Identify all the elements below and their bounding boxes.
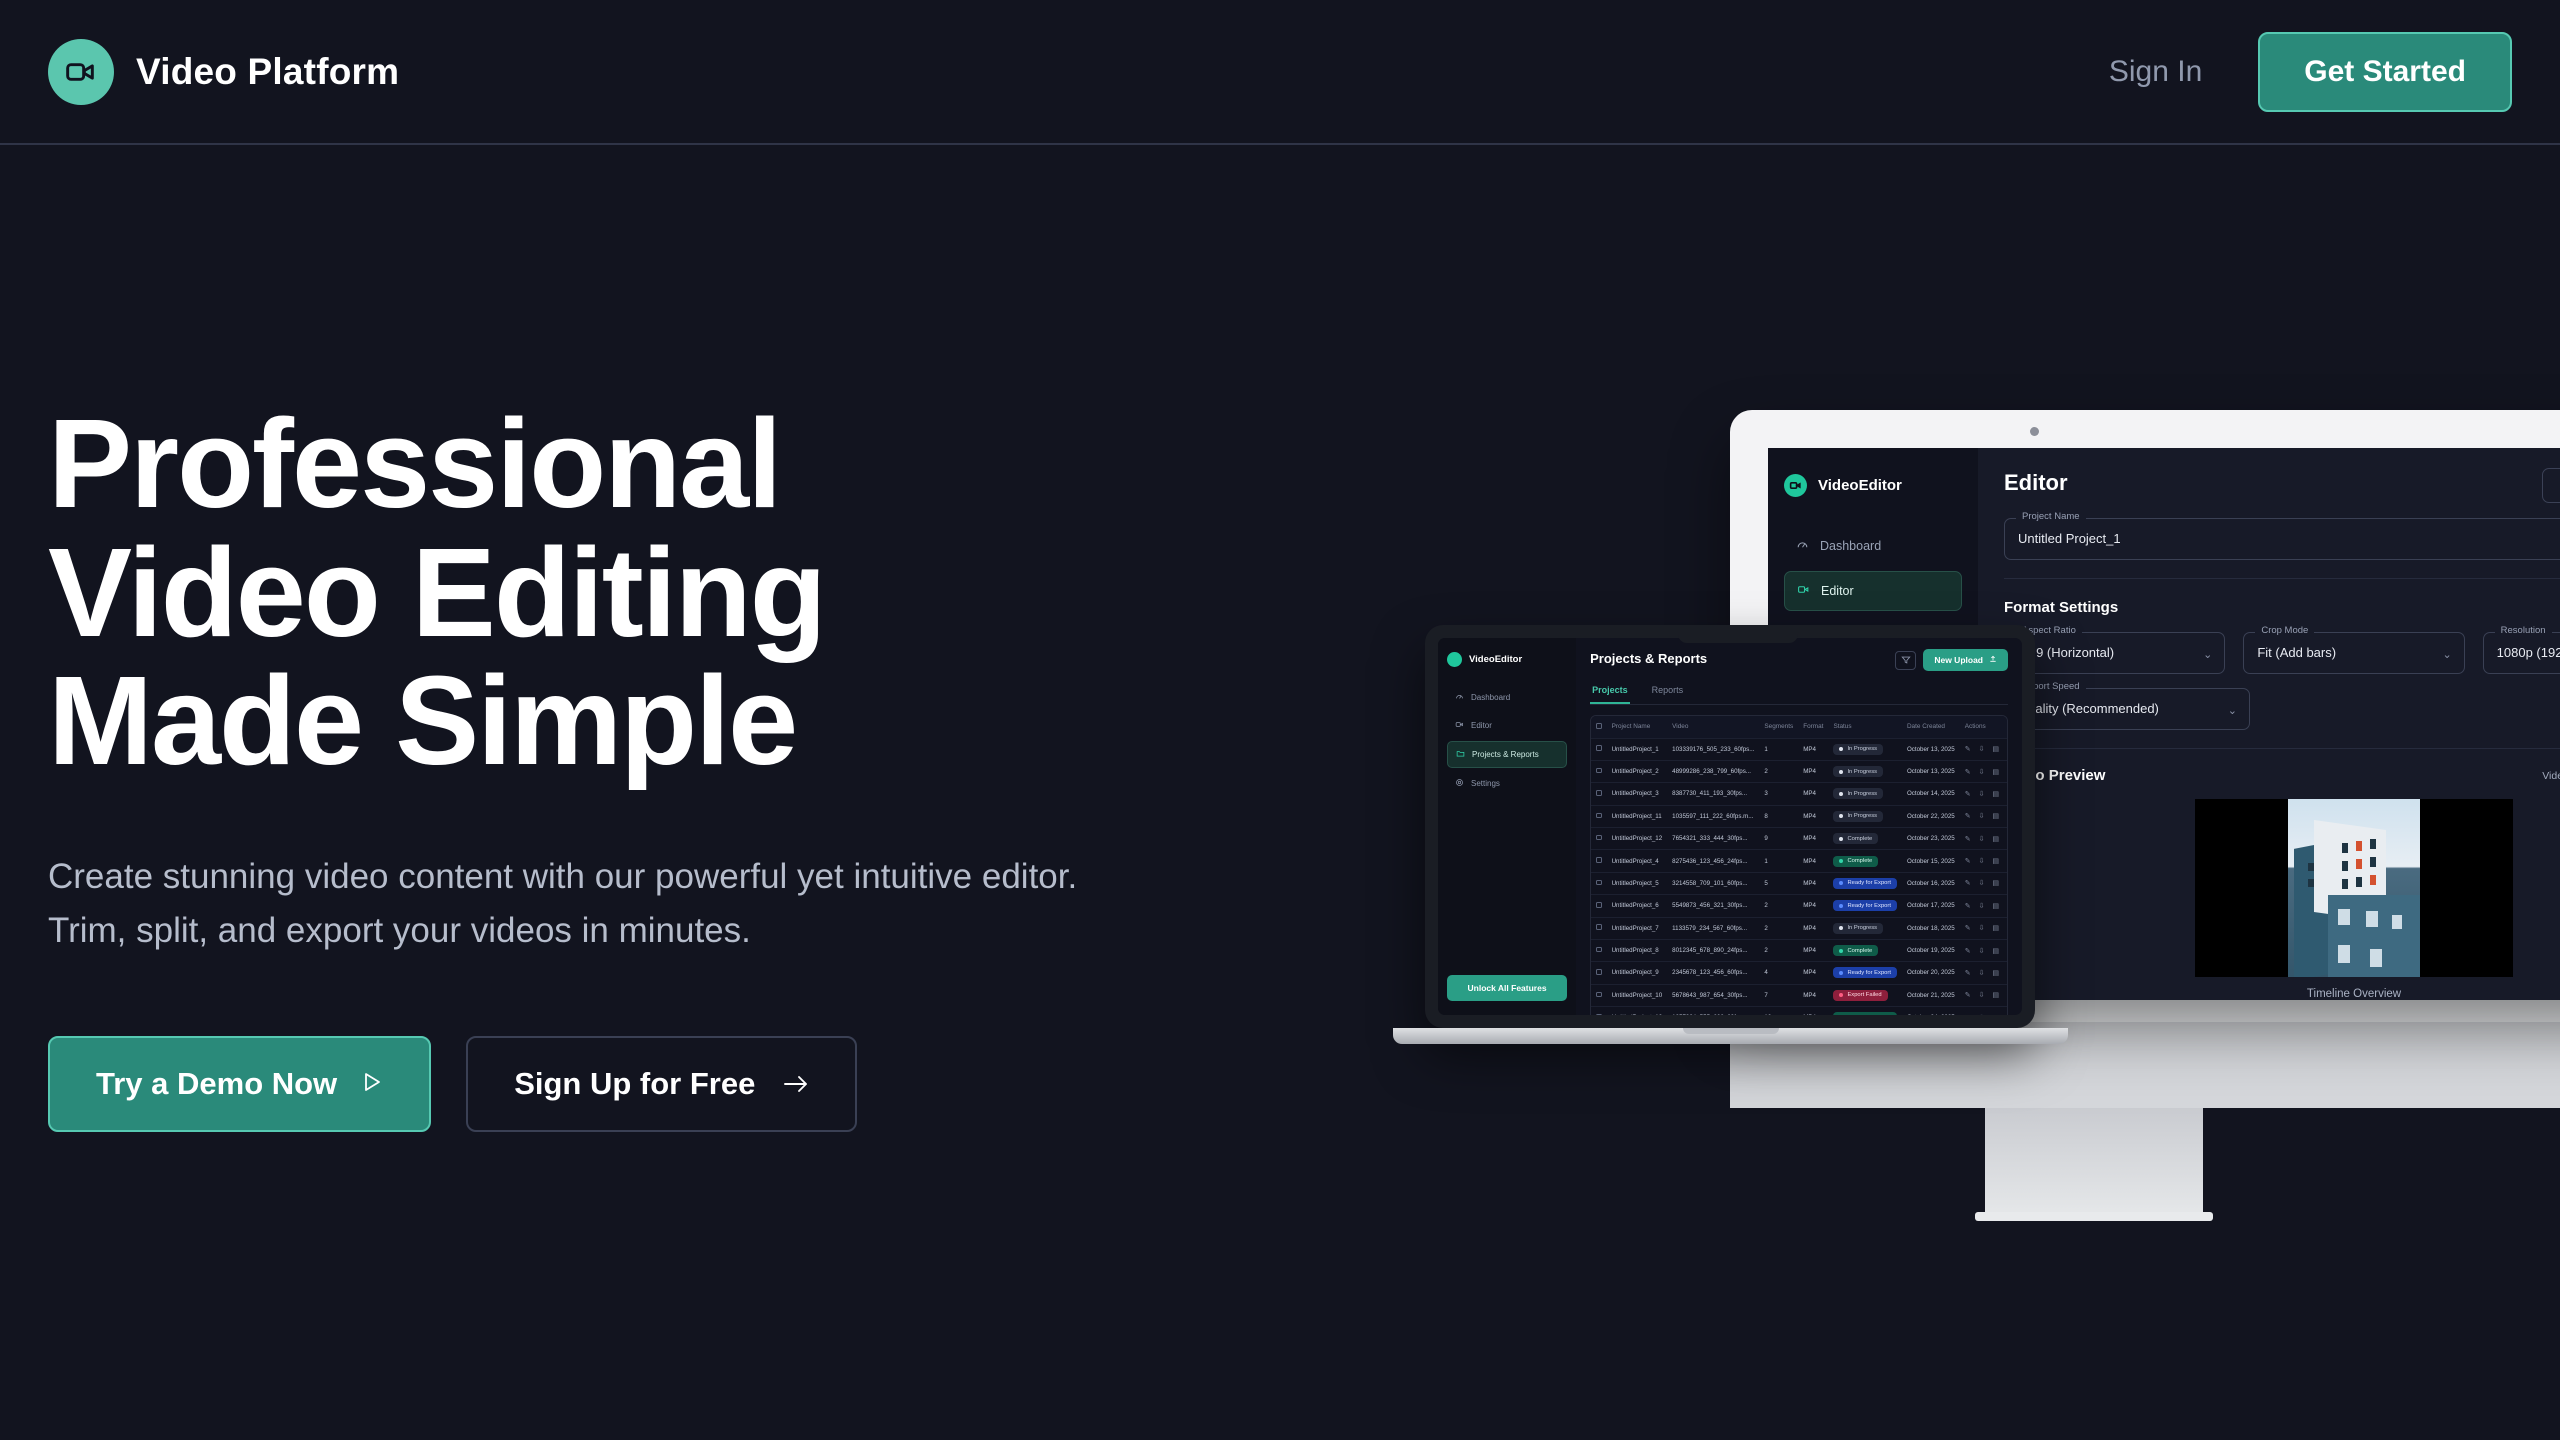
table-row[interactable]: UntitledProject_48275436_123_456_24fps..…: [1591, 850, 2007, 872]
cell-project-name: UntitledProject_8: [1607, 939, 1668, 961]
sidebar-label: Dashboard: [1820, 539, 1881, 553]
crop-mode-value: Fit (Add bars): [2257, 645, 2336, 660]
sidebar-label: Editor: [1821, 584, 1854, 598]
cell-video: 1133579_234_567_60fps...: [1667, 917, 1759, 939]
row-checkbox[interactable]: [1591, 917, 1607, 939]
crop-mode-label: Crop Mode: [2255, 625, 2314, 636]
tab-projects[interactable]: Projects: [1590, 679, 1630, 704]
format-settings-title: Format Settings: [2004, 599, 2560, 616]
cell-segments: 1: [1759, 738, 1798, 760]
cell-actions[interactable]: ✎ ⇩ ▤: [1960, 917, 2007, 939]
cell-segments: 2: [1759, 895, 1798, 917]
cell-segments: 2: [1759, 917, 1798, 939]
table-row[interactable]: UntitledProject_111035597_111_222_60fps.…: [1591, 805, 2007, 827]
monitor-stand-neck: [1985, 1108, 2203, 1218]
divider: [2004, 578, 2560, 579]
cell-project-name: UntitledProject_7: [1607, 917, 1668, 939]
cell-status: Complete: [1828, 939, 1902, 961]
cell-segments: 5: [1759, 872, 1798, 894]
cell-format: MP4: [1798, 738, 1828, 760]
chevron-down-icon: ⌄: [2442, 648, 2451, 661]
cell-status: Complete: [1828, 828, 1902, 850]
cell-format: MP4: [1798, 984, 1828, 1006]
sidebar-label: Projects & Reports: [1472, 750, 1539, 759]
cell-segments: 3: [1759, 783, 1798, 805]
video-camera-icon: [1784, 474, 1807, 497]
cell-actions[interactable]: ✎ ⇩ ▤: [1960, 783, 2007, 805]
table-row[interactable]: UntitledProject_105678643_987_654_30fps.…: [1591, 984, 2007, 1006]
funnel-icon[interactable]: [1895, 651, 1916, 670]
cell-status: In Progress: [1828, 783, 1902, 805]
table-row[interactable]: UntitledProject_1103339176_505_233_60fps…: [1591, 738, 2007, 760]
project-name-label: Project Name: [2016, 511, 2086, 522]
row-checkbox[interactable]: [1591, 828, 1607, 850]
new-upload-button[interactable]: New Upload: [1923, 649, 2008, 671]
cell-video: 1035597_111_222_60fps.m...: [1667, 805, 1759, 827]
project-name-value: Untitled Project_1: [2018, 531, 2121, 546]
cell-project-name: UntitledProject_11: [1607, 805, 1668, 827]
resolution-label: Resolution: [2495, 625, 2552, 636]
gear-icon: [1455, 778, 1464, 789]
sidebar-label: Editor: [1471, 721, 1492, 730]
th-format[interactable]: Format: [1798, 716, 1828, 738]
cell-date: October 21, 2025: [1902, 984, 1960, 1006]
cell-status: Ready for Export: [1828, 1007, 1902, 1016]
cell-status: In Progress: [1828, 805, 1902, 827]
cell-actions[interactable]: ✎ ⇩ ▤: [1960, 872, 2007, 894]
laptop-brand: VideoEditor: [1447, 652, 1567, 667]
crop-mode-select[interactable]: Crop Mode Fit (Add bars) ⌄: [2243, 632, 2464, 674]
th-date-created[interactable]: Date Created: [1902, 716, 1960, 738]
cell-format: MP4: [1798, 939, 1828, 961]
video-camera-icon: [1447, 652, 1462, 667]
cell-format: MP4: [1798, 962, 1828, 984]
row-checkbox[interactable]: [1591, 760, 1607, 782]
try-demo-button[interactable]: Try a Demo Now: [48, 1036, 431, 1132]
th-video[interactable]: Video: [1667, 716, 1759, 738]
cell-video: 8012345_678_890_24fps...: [1667, 939, 1759, 961]
cell-video: 5549873_456_321_30fps...: [1667, 895, 1759, 917]
arrow-right-icon: [783, 1066, 809, 1102]
try-demo-label: Try a Demo Now: [96, 1066, 337, 1102]
cell-status: In Progress: [1828, 760, 1902, 782]
hero-line-1: Professional: [48, 393, 780, 534]
cell-video: 8275436_123_456_24fps...: [1667, 850, 1759, 872]
video-camera-icon: [1797, 583, 1810, 599]
cell-video: 2345678_123_456_60fps...: [1667, 962, 1759, 984]
editor-top-actions: Save Exp: [2542, 468, 2560, 503]
cell-date: October 22, 2025: [1902, 805, 1960, 827]
cell-actions[interactable]: ✎ ⇩ ▤: [1960, 984, 2007, 1006]
cell-date: October 13, 2025: [1902, 738, 1960, 760]
hero-section: Professional Video Editing Made Simple C…: [48, 400, 1168, 1132]
table-row[interactable]: UntitledProject_65549873_456_321_30fps..…: [1591, 895, 2007, 917]
cell-segments: 1: [1759, 850, 1798, 872]
cell-status: In Progress: [1828, 738, 1902, 760]
video-player[interactable]: [2195, 799, 2513, 977]
cell-format: MP4: [1798, 850, 1828, 872]
table-row[interactable]: UntitledProject_127654321_333_444_30fps.…: [1591, 828, 2007, 850]
cell-actions[interactable]: ✎ ⇩ ▤: [1960, 760, 2007, 782]
cell-status: Complete: [1828, 850, 1902, 872]
video-camera-icon: [48, 39, 114, 105]
cell-project-name: UntitledProject_9: [1607, 962, 1668, 984]
cell-segments: 8: [1759, 805, 1798, 827]
cell-video: 1357924_555_666_60fps...: [1667, 1007, 1759, 1016]
get-started-button[interactable]: Get Started: [2258, 32, 2512, 112]
cell-video: 3214558_709_101_60fps...: [1667, 872, 1759, 894]
cell-date: October 13, 2025: [1902, 760, 1960, 782]
table-header-row: Project Name Video Segments Format Statu…: [1591, 716, 2007, 738]
row-checkbox[interactable]: [1591, 783, 1607, 805]
cell-actions[interactable]: ✎ ⇩ ▤: [1960, 828, 2007, 850]
chevron-down-icon: ⌄: [2228, 704, 2237, 717]
video-camera-icon: [1455, 720, 1464, 731]
brand[interactable]: Video Platform: [48, 39, 399, 105]
project-name-field[interactable]: Project Name Untitled Project_1: [2004, 518, 2560, 560]
cell-segments: 9: [1759, 828, 1798, 850]
th-project-name[interactable]: Project Name: [1607, 716, 1668, 738]
cell-project-name: UntitledProject_5: [1607, 872, 1668, 894]
page-title: Professional Video Editing Made Simple: [48, 400, 1168, 786]
sign-up-button[interactable]: Sign Up for Free: [466, 1036, 857, 1132]
cell-format: MP4: [1798, 828, 1828, 850]
cell-date: October 20, 2025: [1902, 962, 1960, 984]
gauge-icon: [1796, 538, 1809, 554]
laptop-lid: VideoEditor Dashboard Editor: [1425, 625, 2035, 1028]
laptop-app-name: VideoEditor: [1469, 654, 1522, 665]
cell-format: MP4: [1798, 783, 1828, 805]
table-row[interactable]: UntitledProject_92345678_123_456_60fps..…: [1591, 962, 2007, 984]
row-checkbox[interactable]: [1591, 1007, 1607, 1016]
table-body: UntitledProject_1103339176_505_233_60fps…: [1591, 738, 2007, 1015]
cell-segments: 2: [1759, 939, 1798, 961]
cell-date: October 18, 2025: [1902, 917, 1960, 939]
cell-actions[interactable]: ✎ ⇩ ▤: [1960, 738, 2007, 760]
hero-line-3: Made Simple: [48, 650, 796, 791]
laptop-base: [1393, 1028, 2068, 1044]
table-row[interactable]: UntitledProject_248999286_238_799_60fps.…: [1591, 760, 2007, 782]
th-checkbox[interactable]: [1591, 716, 1607, 738]
cell-video: 8387730_411_193_30fps...: [1667, 783, 1759, 805]
product-mockup: VideoEditor Dashboard Editor: [1730, 400, 2560, 1280]
sidebar-label: Settings: [1471, 779, 1500, 788]
table-row[interactable]: UntitledProject_88012345_678_890_24fps..…: [1591, 939, 2007, 961]
cell-video: 5678643_987_654_30fps...: [1667, 984, 1759, 1006]
sidebar-item-editor[interactable]: Editor: [1447, 713, 1567, 738]
laptop-device: VideoEditor Dashboard Editor: [1425, 625, 2100, 1044]
row-checkbox[interactable]: [1591, 738, 1607, 760]
hero-subtitle: Create stunning video content with our p…: [48, 850, 1078, 959]
cell-project-name: UntitledProject_4: [1607, 850, 1668, 872]
cell-actions[interactable]: ✎ ⇩ ▤: [1960, 939, 2007, 961]
player-size-label: Video player size: [2542, 770, 2560, 782]
cell-date: October 23, 2025: [1902, 828, 1960, 850]
monitor-stand-foot: [1975, 1212, 2213, 1221]
landing-page: Video Platform Sign In Get Started Profe…: [0, 0, 2560, 1440]
video-frame-building-photo: [2288, 799, 2420, 977]
th-status[interactable]: Status: [1828, 716, 1902, 738]
resolution-value: 1080p (1920x1080): [2497, 645, 2560, 660]
laptop-toolbar: New Upload: [1895, 649, 2008, 671]
site-header: Video Platform Sign In Get Started: [0, 0, 2560, 145]
cell-format: MP4: [1798, 760, 1828, 782]
cell-date: October 19, 2025: [1902, 939, 1960, 961]
cell-project-name: UntitledProject_12: [1607, 828, 1668, 850]
row-checkbox[interactable]: [1591, 805, 1607, 827]
row-checkbox[interactable]: [1591, 850, 1607, 872]
cell-project-name: UntitledProject_1: [1607, 738, 1668, 760]
cell-actions[interactable]: ✎ ⇩ ▤: [1960, 962, 2007, 984]
cell-project-name: UntitledProject_2: [1607, 760, 1668, 782]
cell-status: Ready for Export: [1828, 962, 1902, 984]
table-row[interactable]: UntitledProject_53214558_709_101_60fps..…: [1591, 872, 2007, 894]
sidebar-item-projects-reports[interactable]: Projects & Reports: [1447, 741, 1567, 768]
row-checkbox[interactable]: [1591, 895, 1607, 917]
sidebar-item-editor[interactable]: Editor: [1784, 571, 1962, 611]
cell-status: Ready for Export: [1828, 872, 1902, 894]
play-triangle-icon: [359, 1066, 383, 1102]
cell-status: Export Failed: [1828, 984, 1902, 1006]
cell-segments: 4: [1759, 962, 1798, 984]
cell-segments: 10: [1759, 1007, 1798, 1016]
cell-format: MP4: [1798, 872, 1828, 894]
sidebar-label: Dashboard: [1471, 693, 1510, 702]
cell-segments: 7: [1759, 984, 1798, 1006]
projects-table-wrap: Project Name Video Segments Format Statu…: [1590, 715, 2008, 1015]
cell-video: 7654321_333_444_30fps...: [1667, 828, 1759, 850]
sidebar-item-dashboard[interactable]: Dashboard: [1447, 685, 1567, 710]
cell-status: In Progress: [1828, 917, 1902, 939]
sidebar-item-settings[interactable]: Settings: [1447, 771, 1567, 796]
cell-video: 48999286_238_799_60fps...: [1667, 760, 1759, 782]
cell-format: MP4: [1798, 917, 1828, 939]
cell-project-name: UntitledProject_3: [1607, 783, 1668, 805]
chevron-down-icon: ⌄: [2203, 648, 2212, 661]
cell-date: October 14, 2025: [1902, 783, 1960, 805]
cell-actions[interactable]: ✎ ⇩ ▤: [1960, 805, 2007, 827]
sign-up-label: Sign Up for Free: [514, 1066, 755, 1102]
row-checkbox[interactable]: [1591, 984, 1607, 1006]
gauge-icon: [1455, 692, 1464, 703]
cell-actions[interactable]: ✎ ⇩ ▤: [1960, 1007, 2007, 1016]
save-button[interactable]: Save: [2542, 468, 2560, 503]
cell-actions[interactable]: ✎ ⇩ ▤: [1960, 850, 2007, 872]
cell-project-name: UntitledProject_13: [1607, 1007, 1668, 1016]
unlock-all-features-button[interactable]: Unlock All Features: [1447, 975, 1567, 1001]
th-segments[interactable]: Segments: [1759, 716, 1798, 738]
table-row[interactable]: UntitledProject_38387730_411_193_30fps..…: [1591, 783, 2007, 805]
header-actions: Sign In Get Started: [2109, 32, 2512, 112]
cell-project-name: UntitledProject_10: [1607, 984, 1668, 1006]
projects-table: Project Name Video Segments Format Statu…: [1591, 716, 2007, 1015]
folder-icon: [1456, 749, 1465, 760]
new-upload-label: New Upload: [1934, 655, 1983, 665]
cell-format: MP4: [1798, 1007, 1828, 1016]
editor-app-name: VideoEditor: [1818, 477, 1902, 494]
row-checkbox[interactable]: [1591, 872, 1607, 894]
laptop-main: Projects & Reports New Upload Project: [1576, 638, 2022, 1015]
cell-date: October 15, 2025: [1902, 850, 1960, 872]
table-row[interactable]: UntitledProject_71133579_234_567_60fps..…: [1591, 917, 2007, 939]
resolution-select[interactable]: Resolution 1080p (1920x1080) ⌄: [2483, 632, 2560, 674]
row-checkbox[interactable]: [1591, 939, 1607, 961]
monitor-camera-dot: [2030, 427, 2039, 436]
editor-brand: VideoEditor: [1784, 474, 1962, 497]
cta-row: Try a Demo Now Sign Up for Free: [48, 1036, 1168, 1132]
editor-page-title: Editor: [2004, 470, 2560, 496]
row-checkbox[interactable]: [1591, 962, 1607, 984]
cell-video: 103339176_505_233_60fps...: [1667, 738, 1759, 760]
tab-reports[interactable]: Reports: [1650, 679, 1686, 704]
cell-format: MP4: [1798, 805, 1828, 827]
cell-segments: 2: [1759, 760, 1798, 782]
sidebar-item-dashboard[interactable]: Dashboard: [1784, 527, 1962, 565]
th-actions: Actions: [1960, 716, 2007, 738]
upload-icon: [1989, 655, 1997, 665]
video-player-size-slider[interactable]: Video player size: [2542, 770, 2560, 782]
cell-status: Ready for Export: [1828, 895, 1902, 917]
hero-line-2: Video Editing: [48, 522, 825, 663]
cell-date: October 16, 2025: [1902, 872, 1960, 894]
projects-app-screen: VideoEditor Dashboard Editor: [1438, 638, 2022, 1015]
cell-date: October 24, 2025: [1902, 1007, 1960, 1016]
laptop-notch: [1678, 627, 1798, 643]
brand-name: Video Platform: [136, 51, 399, 93]
table-row[interactable]: UntitledProject_131357924_555_666_60fps.…: [1591, 1007, 2007, 1016]
laptop-tabs: Projects Reports: [1590, 679, 2008, 705]
laptop-nav: Dashboard Editor Projects & Reports: [1447, 685, 1567, 796]
cell-project-name: UntitledProject_6: [1607, 895, 1668, 917]
cell-date: October 17, 2025: [1902, 895, 1960, 917]
sign-in-link[interactable]: Sign In: [2109, 55, 2202, 89]
cell-format: MP4: [1798, 895, 1828, 917]
cell-actions[interactable]: ✎ ⇩ ▤: [1960, 895, 2007, 917]
laptop-sidebar: VideoEditor Dashboard Editor: [1438, 638, 1576, 1015]
